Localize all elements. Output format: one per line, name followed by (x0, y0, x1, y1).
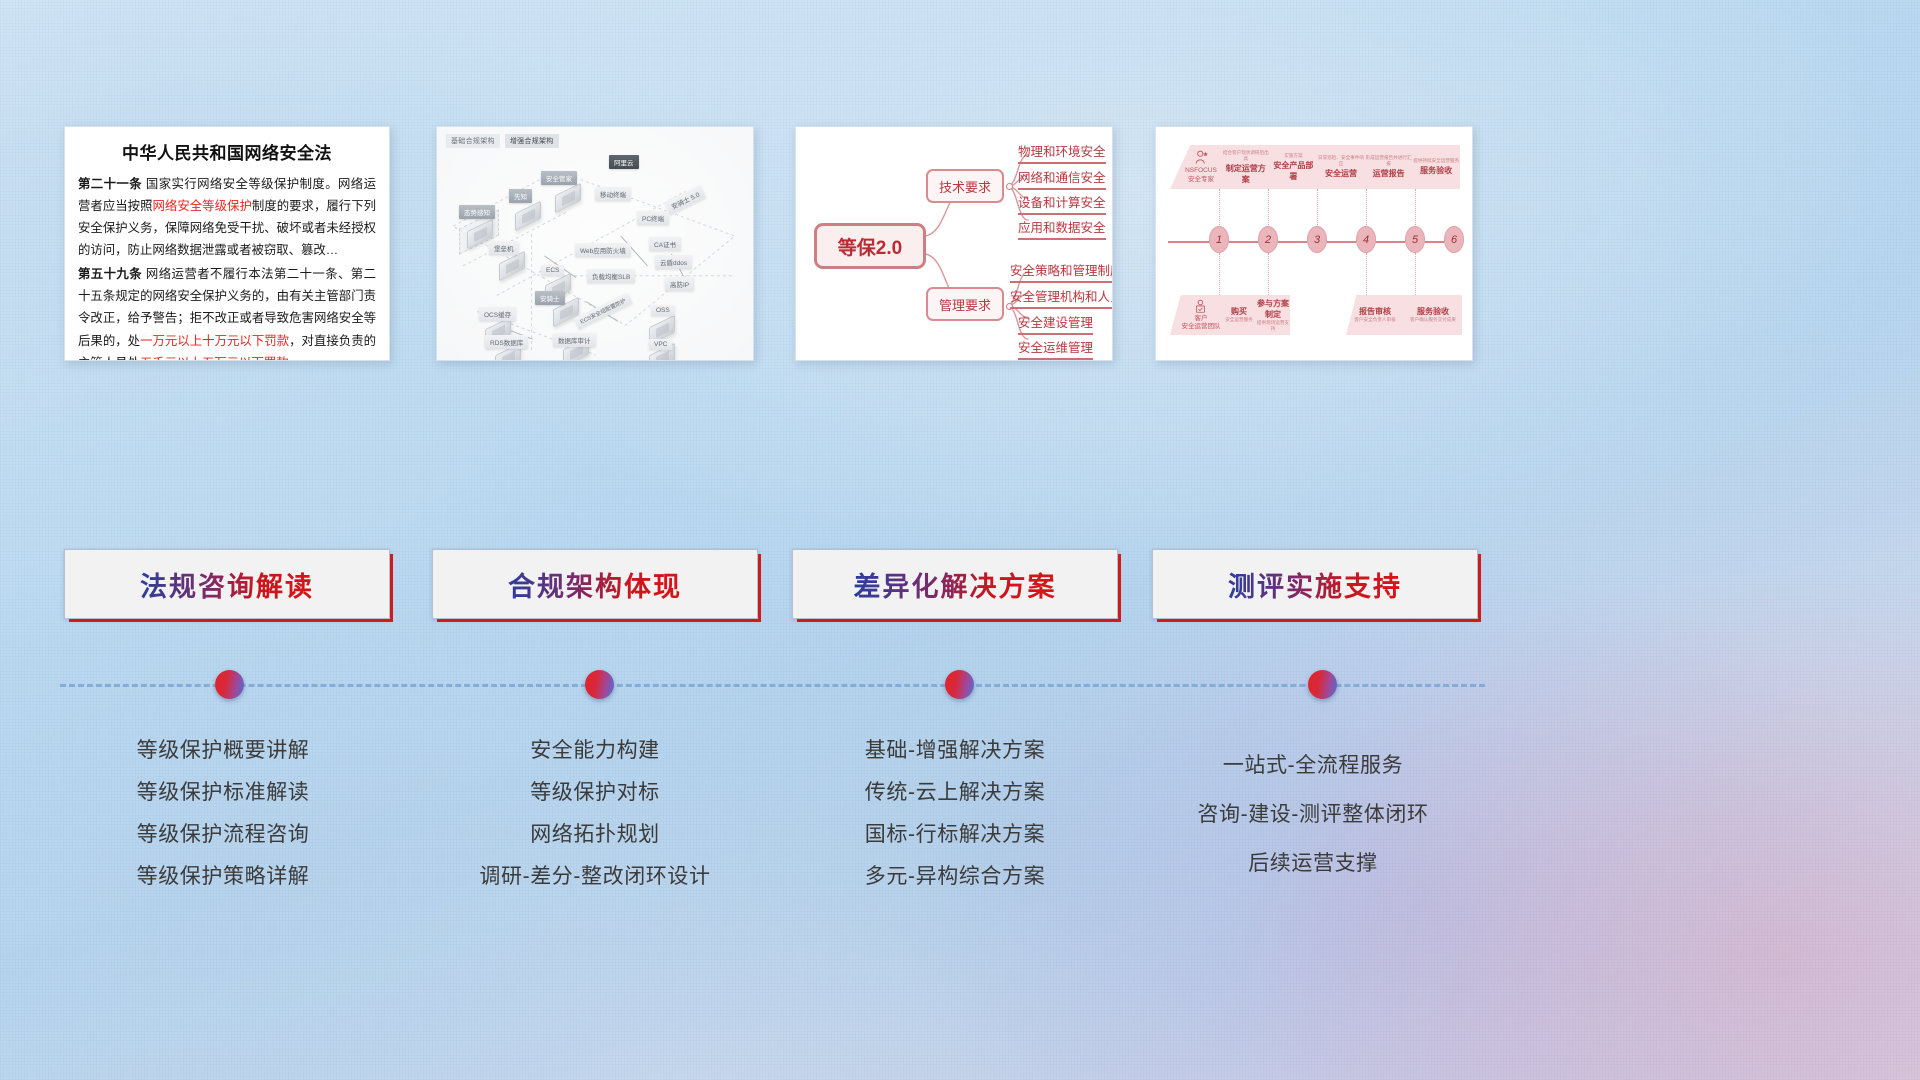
nsfocus-brand-sub: 安全专家 (1188, 176, 1214, 183)
timeline-node: 4 (1356, 226, 1376, 253)
timeline-bottom-stage: 参与方案制定 提供现场运营支持 (1256, 298, 1290, 333)
law-article-59-highlight-a: 一万元以上十万元以下罚款 (140, 334, 289, 348)
stage-title: 运营报告 (1365, 168, 1413, 179)
arch-chip-rds: RDS数据库 (485, 335, 528, 349)
stage-caption: 提供持续安全运营服务 (1412, 158, 1460, 164)
mindmap-leaf: 设备和计算安全 (1018, 192, 1106, 215)
list-item: 安全能力构建 (415, 740, 775, 761)
stage-title: 安全运营 (1317, 168, 1365, 179)
mindmap-leaf: 安全策略和管理制度 (1010, 260, 1113, 283)
timeline-drop-line (1268, 253, 1269, 295)
customer-avatar-icon (1194, 299, 1208, 314)
law-article-21-highlight: 网络安全等级保护 (153, 199, 252, 213)
mindmap-leaf: 应用和数据安全 (1018, 217, 1106, 240)
timeline-marker-dot[interactable] (585, 670, 614, 699)
timeline-dashed-line (60, 684, 1485, 687)
mindmap: 等保2.0 技术要求 管理要求 物理和环境安全 网络和通信安全 设备和计算安全 … (796, 127, 1112, 360)
mindmap-root-node: 等保2.0 (814, 223, 926, 269)
timeline-bottom-stage: 购买 安全运营服务 (1222, 306, 1256, 324)
list-item: 多元-异构综合方案 (775, 866, 1135, 887)
timeline-node: 3 (1307, 226, 1327, 253)
list-item: 一站式-全流程服务 (1133, 755, 1493, 776)
arch-chip-anqishi: 安骑士 (535, 291, 565, 305)
law-title: 中华人民共和国网络安全法 (65, 139, 389, 164)
timeline-node: 2 (1258, 226, 1278, 253)
timeline-node: 6 (1444, 226, 1464, 253)
timeline-drop-line (1366, 253, 1367, 295)
mindmap-leaf: 网络和通信安全 (1018, 167, 1106, 190)
mindmap-node-dot-icon (1006, 183, 1013, 190)
timeline-bottom-stage: 服务验收 客户确认服务交付成果 (1404, 306, 1462, 324)
arch-chip-ocs-cache: OCS缓存 (479, 307, 516, 321)
timeline-top-stage: 结合客户现状调研后出具 制定运营方案 (1222, 150, 1270, 185)
timeline-node: 1 (1209, 226, 1229, 253)
timeline-node: 5 (1405, 226, 1425, 253)
list-item: 国标-行标解决方案 (775, 824, 1135, 845)
heading-box-regulation-consulting[interactable]: 法规咨询解读 (64, 549, 390, 619)
stage-caption: 安全运营服务 (1222, 317, 1256, 323)
arch-chip-aliyun: 阿里云 (609, 155, 639, 169)
list-column-differentiated-solution: 基础-增强解决方案 传统-云上解决方案 国标-行标解决方案 多元-异构综合方案 (775, 740, 1135, 908)
timeline-bottom-band-right: 报告审核 客户安全负责人审核 服务验收 客户确认服务交付成果 (1346, 295, 1462, 335)
stage-caption: 实施方案 (1270, 153, 1318, 159)
timeline-marker-dot[interactable] (945, 670, 974, 699)
mindmap-leaf: 安全建设管理 (1018, 312, 1093, 335)
stage-title: 服务验收 (1404, 306, 1462, 317)
heading-box-compliance-architecture[interactable]: 合规架构体现 (432, 549, 758, 619)
list-item: 基础-增强解决方案 (775, 740, 1135, 761)
list-column-compliance-architecture: 安全能力构建 等级保护对标 网络拓扑规划 调研-差分-整改闭环设计 (415, 740, 775, 908)
stage-title: 制定运营方案 (1222, 163, 1270, 185)
mindmap-leaf: 安全运维管理 (1018, 337, 1093, 360)
architecture-diagram: 基础合规架构 增强合规架构 (437, 127, 753, 360)
card-mindmap-dengbao[interactable]: 等保2.0 技术要求 管理要求 物理和环境安全 网络和通信安全 设备和计算安全 … (795, 126, 1113, 361)
stage-caption: 客户安全负责人审核 (1346, 317, 1404, 323)
arch-chip-gaofang-ip: 高防IP (665, 277, 694, 291)
mindmap-branch-technical: 技术要求 (926, 169, 1004, 203)
law-article-21: 第二十一条 国家实行网络安全等级保护制度。网络运营者应当按照网络安全等级保护制度… (78, 173, 376, 261)
list-item: 等级保护概要讲解 (43, 740, 403, 761)
heading-label: 合规架构体现 (508, 565, 682, 604)
law-article-21-label: 第二十一条 (78, 177, 142, 191)
stage-title: 购买 (1222, 306, 1256, 317)
timeline-drop-line (1366, 189, 1367, 229)
customer-label: 客户 (1195, 315, 1208, 322)
stage-title: 服务验收 (1412, 165, 1460, 176)
timeline-drop-line (1219, 189, 1220, 229)
stage-caption: 日常巡检、安全事件响应 (1317, 155, 1365, 167)
arch-chip-pc-terminal: PC终端 (637, 211, 669, 225)
stage-title: 安全产品部署 (1270, 160, 1318, 182)
mindmap-leaf: 安全管理机构和人员 (1010, 286, 1113, 309)
timeline-drop-line (1317, 189, 1318, 229)
list-column-regulation-consulting: 等级保护概要讲解 等级保护标准解读 等级保护流程咨询 等级保护策略详解 (43, 740, 403, 908)
list-item: 等级保护对标 (415, 782, 775, 803)
arch-chip-bastion-host: 堡垒机 (489, 241, 519, 255)
list-item: 传统-云上解决方案 (775, 782, 1135, 803)
arch-chip-slb: 负载均衡SLB (587, 269, 635, 283)
list-item: 等级保护流程咨询 (43, 824, 403, 845)
list-item: 等级保护标准解读 (43, 782, 403, 803)
timeline-bottom-stage: 报告审核 客户安全负责人审核 (1346, 306, 1404, 324)
process-timeline (60, 683, 1485, 687)
arch-chip-xianzhi: 先知 (509, 189, 532, 203)
stage-title: 报告审核 (1346, 306, 1404, 317)
nsfocus-expert-persona: NSFOCUS 安全专家 (1180, 150, 1222, 183)
expert-avatar-icon (1194, 150, 1209, 166)
stage-title: 参与方案制定 (1256, 298, 1290, 320)
timeline-bottom-band-left: 客户 安全运营团队 购买 安全运营服务 参与方案制定 提供现场运营支持 (1170, 295, 1290, 335)
list-item: 网络拓扑规划 (415, 824, 775, 845)
timeline-top-stage: 提供持续安全运营服务 服务验收 (1412, 158, 1460, 176)
nsfocus-brand: NSFOCUS (1185, 167, 1217, 174)
heading-label: 法规咨询解读 (140, 565, 314, 604)
heading-box-assessment-support[interactable]: 测评实施支持 (1152, 549, 1478, 619)
arch-chip-security-steward: 安全管家 (541, 171, 577, 185)
mindmap-branch-management: 管理要求 (926, 287, 1004, 321)
mindmap-leaf: 物理和环境安全 (1018, 141, 1106, 164)
arch-chip-situational-awareness: 态势感知 (459, 205, 495, 219)
list-column-assessment-support: 一站式-全流程服务 咨询-建设-测评整体闭环 后续运营支撑 (1133, 755, 1493, 902)
timeline-marker-dot[interactable] (1308, 670, 1337, 699)
timeline-marker-dot[interactable] (215, 670, 244, 699)
card-compliance-architecture[interactable]: 基础合规架构 增强合规架构 (436, 126, 754, 361)
customer-sub: 安全运营团队 (1182, 323, 1221, 330)
law-article-59: 第五十九条 网络运营者不履行本法第二十一条、第二十五条规定的网络安全保护义务的，… (78, 263, 376, 361)
arch-chip-ecs: ECS (541, 265, 564, 276)
service-timeline: NSFOCUS 安全专家 结合客户现状调研后出具 制定运营方案 实施方案 安全产… (1156, 127, 1472, 360)
timeline-top-stage: 日常巡检、安全事件响应 安全运营 (1317, 155, 1365, 179)
card-service-timeline[interactable]: NSFOCUS 安全专家 结合客户现状调研后出具 制定运营方案 实施方案 安全产… (1155, 126, 1473, 361)
timeline-drop-line (1268, 189, 1269, 229)
arch-chip-mobile-terminal: 移动终端 (595, 187, 631, 201)
arch-chip-ca-cert: CA证书 (649, 237, 681, 251)
timeline-drop-line (1415, 189, 1416, 229)
law-body: 第二十一条 国家实行网络安全等级保护制度。网络运营者应当按照网络安全等级保护制度… (65, 164, 389, 361)
arch-chip-oss: OSS (651, 305, 675, 316)
timeline-top-band: NSFOCUS 安全专家 结合客户现状调研后出具 制定运营方案 实施方案 安全产… (1170, 145, 1460, 189)
list-item: 调研-差分-整改闭环设计 (415, 866, 775, 887)
heading-box-differentiated-solution[interactable]: 差异化解决方案 (792, 549, 1118, 619)
stage-caption: 形成运营报告并进行汇报 (1365, 155, 1413, 167)
stage-caption: 客户确认服务交付成果 (1404, 317, 1462, 323)
list-item: 后续运营支撑 (1133, 853, 1493, 874)
timeline-top-stage: 形成运营报告并进行汇报 运营报告 (1365, 155, 1413, 179)
list-item: 等级保护策略详解 (43, 866, 403, 887)
timeline-drop-line (1219, 253, 1220, 295)
customer-persona: 客户 安全运营团队 (1180, 299, 1222, 331)
heading-label: 测评实施支持 (1228, 565, 1402, 604)
stage-caption: 结合客户现状调研后出具 (1222, 150, 1270, 162)
arch-chip-cloud-shield: 云盾ddos (655, 255, 692, 269)
arch-chip-waf: Web应用防火墙 (575, 243, 631, 257)
list-item: 咨询-建设-测评整体闭环 (1133, 804, 1493, 825)
law-article-59-highlight-b: 五千元以上五万元以下罚款。 (140, 356, 301, 361)
preview-cards-row: 中华人民共和国网络安全法 第二十一条 国家实行网络安全等级保护制度。网络运营者应… (0, 126, 1920, 366)
timeline-drop-line (1415, 253, 1416, 295)
arch-chip-vpc: VPC (649, 339, 672, 350)
heading-label: 差异化解决方案 (854, 565, 1057, 604)
stage-caption: 提供现场运营支持 (1256, 320, 1290, 332)
card-cybersecurity-law[interactable]: 中华人民共和国网络安全法 第二十一条 国家实行网络安全等级保护制度。网络运营者应… (64, 126, 390, 361)
law-article-59-label: 第五十九条 (78, 267, 142, 281)
timeline-top-stage: 实施方案 安全产品部署 (1270, 153, 1318, 182)
arch-chip-db-audit: 数据库审计 (553, 333, 596, 347)
